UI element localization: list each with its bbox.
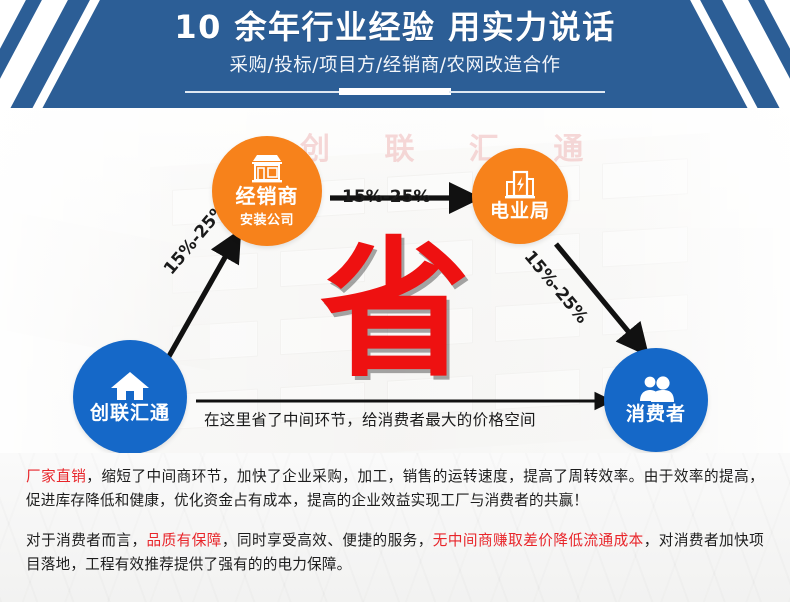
node-power-bureau[interactable]: 电业局 [472, 148, 568, 244]
node-brand-label: 创联汇通 [90, 404, 170, 424]
node-brand[interactable]: 创联汇通 [73, 340, 187, 453]
shop-icon [250, 154, 284, 184]
power-building-icon [504, 170, 536, 200]
node-dealer-label: 经销商 [236, 186, 299, 207]
node-consumer[interactable]: 消费者 [604, 348, 708, 452]
copy-block: 厂家直销，缩短了中间商环节，加快了企业采购，加工，销售的运转速度，提高了周转效率… [0, 453, 790, 602]
header-banner: 10 余年行业经验 用实力说话 采购/投标/项目方/经销商/农网改造合作 [0, 0, 790, 108]
paragraph-2-highlight-1: 品质有保障 [147, 532, 222, 549]
divider-line-left [185, 91, 341, 93]
users-icon [637, 375, 675, 403]
paragraph-2-text-1: 对于消费者而言， [26, 532, 147, 549]
paragraph-2-highlight-2: 无中间商赚取差价降低流通成本 [433, 532, 644, 549]
divider-center-bar [339, 88, 451, 95]
arrow-label-brand-to-consumer: 在这里省了中间环节，给消费者最大的价格空间 [204, 408, 536, 430]
divider-line-right [449, 91, 605, 93]
header-text-group: 10 余年行业经验 用实力说话 采购/投标/项目方/经销商/农网改造合作 [0, 11, 790, 77]
header-divider-ornament [185, 88, 605, 95]
diagram-stage: 创 联 汇 通 省 15%-25% 15%-25% 15%-25% 在这里省了中… [0, 108, 790, 453]
paragraph-1: 厂家直销，缩短了中间商环节，加快了企业采购，加工，销售的运转速度，提高了周转效率… [26, 453, 764, 513]
paragraph-1-text: ，缩短了中间商环节，加快了企业采购，加工，销售的运转速度，提高了周转效率。由于效… [26, 468, 764, 509]
header-subtitle: 采购/投标/项目方/经销商/农网改造合作 [0, 51, 790, 77]
paragraph-2: 对于消费者而言，品质有保障，同时享受高效、便捷的服务，无中间商赚取差价降低流通成… [26, 513, 764, 577]
node-dealer[interactable]: 经销商 安装公司 [212, 136, 322, 246]
header-title: 10 余年行业经验 用实力说话 [0, 11, 790, 45]
node-power-bureau-label: 电业局 [490, 202, 550, 222]
node-consumer-label: 消费者 [626, 405, 686, 425]
node-dealer-sublabel: 安装公司 [240, 209, 294, 228]
paragraph-2-text-2: ，同时享受高效、便捷的服务， [222, 532, 433, 549]
arrow-label-dealer-to-power: 15%-25% [342, 187, 430, 207]
home-icon [110, 370, 150, 402]
infographic-page: 10 余年行业经验 用实力说话 采购/投标/项目方/经销商/农网改造合作 [0, 0, 790, 602]
paragraph-1-highlight: 厂家直销 [26, 468, 86, 485]
